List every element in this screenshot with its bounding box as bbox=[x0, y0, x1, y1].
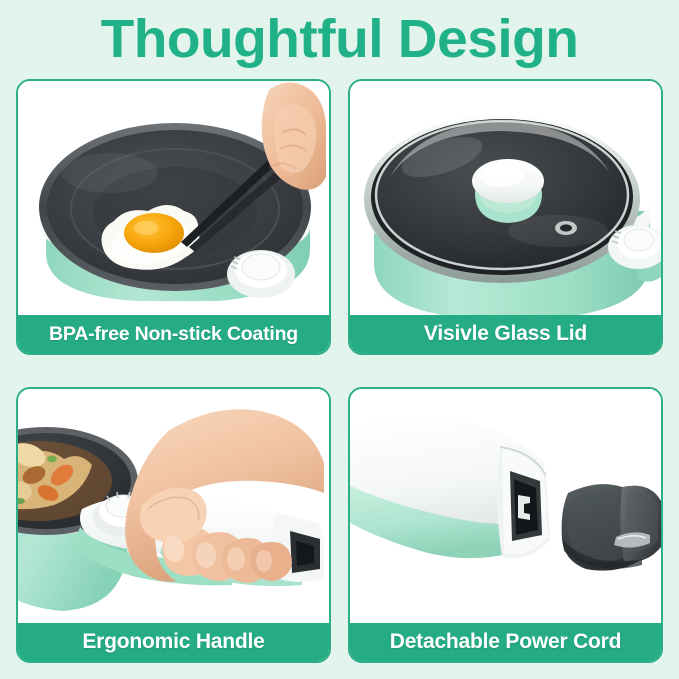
illustration-power-cord bbox=[350, 389, 661, 627]
illustration-pot-with-egg bbox=[18, 81, 329, 319]
product-photo-ergonomic-handle bbox=[18, 389, 329, 627]
illustration-handle-grip bbox=[18, 389, 329, 627]
panel-caption-power-cord: Detachable Power Cord bbox=[350, 623, 661, 661]
control-knob bbox=[227, 250, 295, 298]
page-title: Thoughtful Design bbox=[0, 8, 679, 70]
feature-panel-grid: BPA-free Non-stick Coating bbox=[16, 79, 663, 663]
panel-caption-ergonomic-handle: Ergonomic Handle bbox=[18, 623, 329, 661]
steam-vent bbox=[555, 221, 577, 235]
illustration-glass-lid bbox=[350, 81, 661, 319]
lid-knob bbox=[472, 159, 544, 223]
panel-caption-glass-lid: Visivle Glass Lid bbox=[350, 315, 661, 353]
panel-caption-non-stick-coating: BPA-free Non-stick Coating bbox=[18, 315, 329, 353]
product-photo-power-cord bbox=[350, 389, 661, 627]
feature-panel-non-stick-coating: BPA-free Non-stick Coating bbox=[16, 79, 331, 355]
feature-panel-ergonomic-handle: Ergonomic Handle bbox=[16, 387, 331, 663]
product-photo-non-stick-coating bbox=[18, 81, 329, 319]
product-photo-glass-lid bbox=[350, 81, 661, 319]
infographic-page: Thoughtful Design bbox=[0, 0, 679, 679]
plug bbox=[562, 484, 661, 571]
feature-panel-power-cord: Detachable Power Cord bbox=[348, 387, 663, 663]
feature-panel-glass-lid: Visivle Glass Lid bbox=[348, 79, 663, 355]
